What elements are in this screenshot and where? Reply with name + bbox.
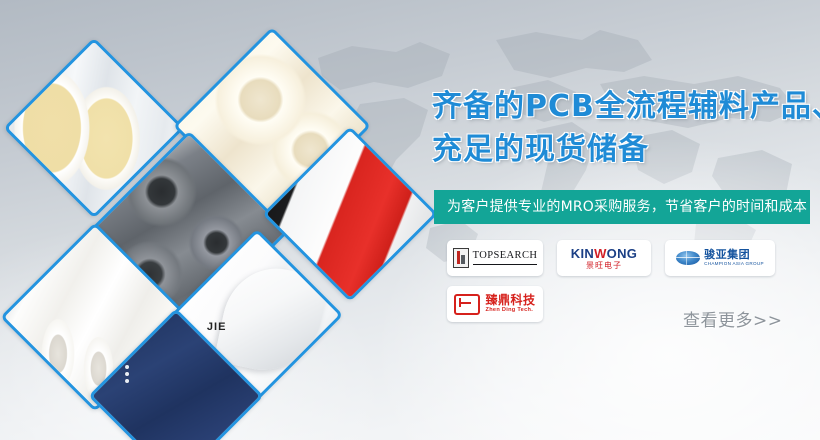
view-more-link[interactable]: 查看更多>>	[683, 313, 783, 330]
headline-block: 齐备的PCB全流程辅料产品、 充足的现货储备	[432, 86, 816, 171]
product-collage: 保护膜卷 尼龙垫圈 磨轮 黑白红胶片 白色管材 JIE 离型纸	[0, 0, 420, 440]
promo-banner: 保护膜卷 尼龙垫圈 磨轮 黑白红胶片 白色管材 JIE 离型纸	[0, 0, 820, 440]
kinwong-en-label: KINWONG	[571, 247, 637, 260]
zhen-ding-mark-icon	[454, 294, 480, 315]
kinwong-en-mid: W	[594, 246, 607, 261]
kinwong-cn-label: 景旺电子	[571, 262, 637, 270]
headline-line-2: 充足的现货储备	[432, 129, 816, 172]
kinwong-en-left: KIN	[571, 246, 594, 261]
kinwong-en-right: ONG	[607, 246, 638, 261]
logo-zhen-ding[interactable]: 臻鼎科技 Zhen Ding Tech.	[447, 286, 543, 322]
subtitle-text: 为客户提供专业的MRO采购服务，节省客户的时间和成本	[434, 200, 807, 214]
paper-tile-text: JIE	[207, 322, 227, 334]
logo-kinwong[interactable]: KINWONG 景旺电子	[557, 240, 651, 276]
headline-line-1: 齐备的PCB全流程辅料产品、	[432, 86, 816, 129]
champion-cn-label: 骏亚集团	[704, 249, 764, 260]
topsearch-label: TOPSEARCH	[473, 251, 538, 265]
paper-peel-shape	[214, 259, 330, 380]
navy-board-dots	[120, 362, 129, 386]
globe-icon	[676, 251, 700, 265]
zhen-ding-en-label: Zhen Ding Tech.	[485, 308, 535, 314]
champion-en-label: CHAMPION ASIA GROUP	[704, 262, 764, 267]
zhen-ding-cn-label: 臻鼎科技	[485, 294, 535, 306]
logo-topsearch[interactable]: TOPSEARCH	[447, 240, 543, 276]
subtitle-bar: 为客户提供专业的MRO采购服务，节省客户的时间和成本	[434, 190, 810, 224]
logo-champion-asia[interactable]: 骏亚集团 CHAMPION ASIA GROUP	[665, 240, 775, 276]
logo-row-1: TOPSEARCH KINWONG 景旺电子 骏亚集团 CHAMPION ASI…	[447, 240, 807, 276]
topsearch-mark-icon	[453, 248, 469, 268]
